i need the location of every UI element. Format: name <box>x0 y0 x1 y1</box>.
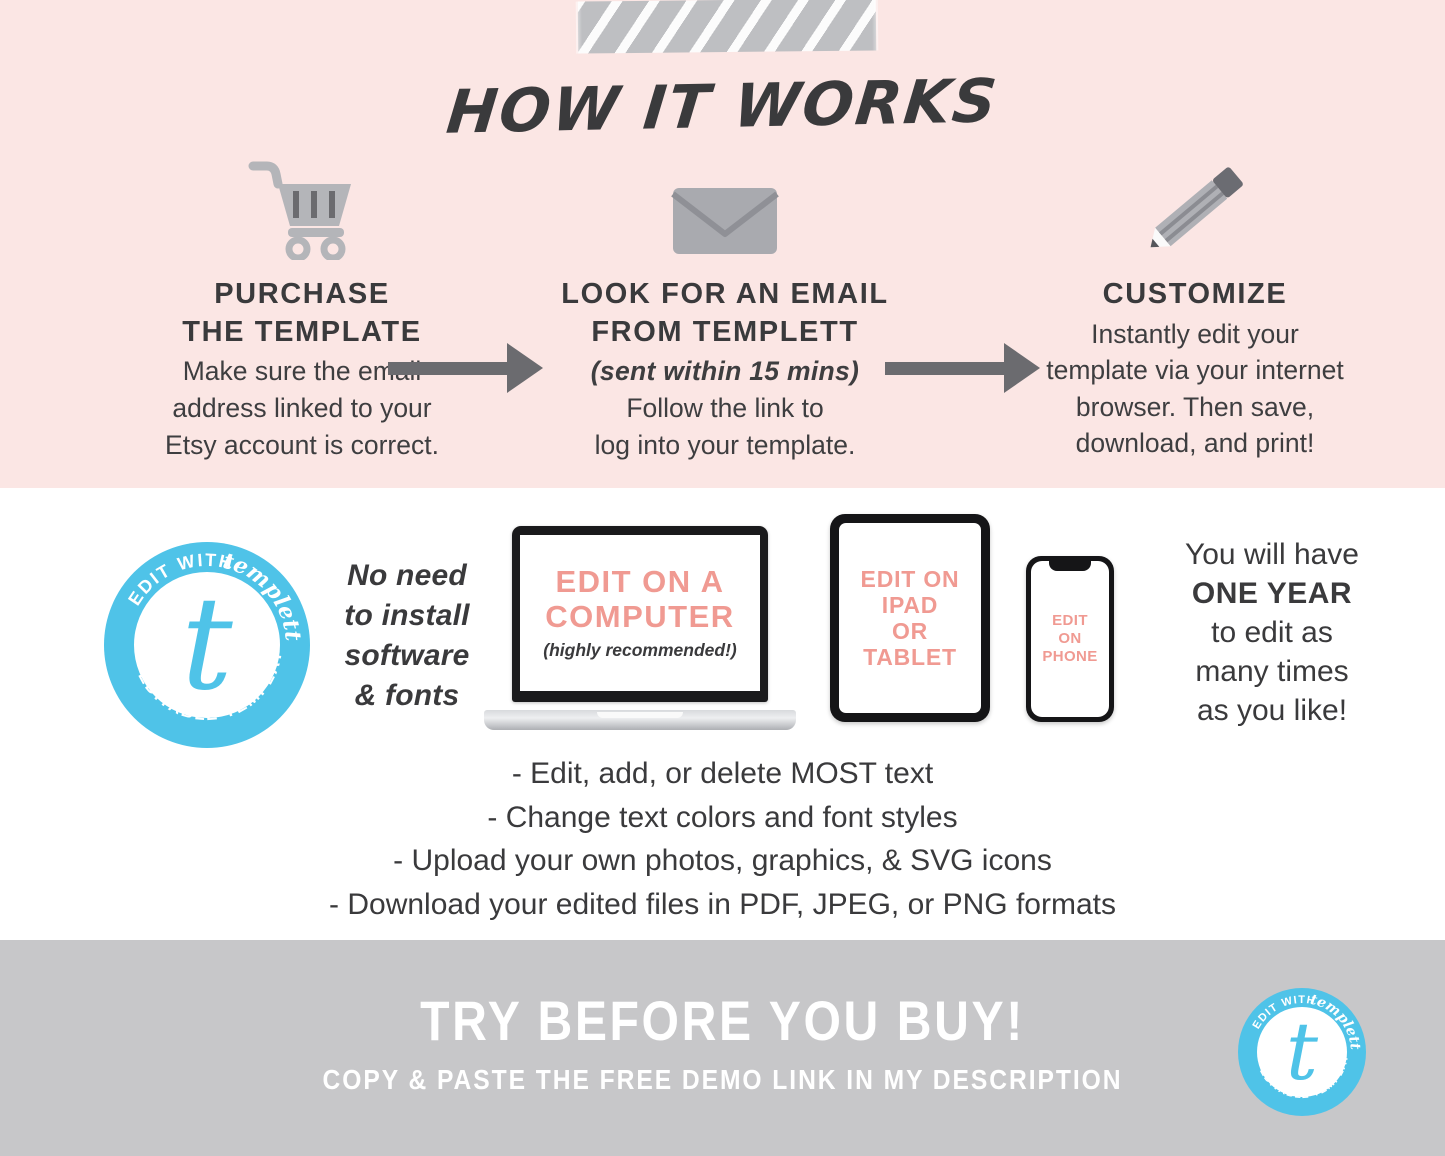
how-it-works-section: HOW IT WORKS PUR <box>0 0 1445 488</box>
ipad-line2: IPAD <box>861 592 960 618</box>
step-body-line3: browser. Then save, <box>975 389 1415 426</box>
envelope-icon <box>510 150 940 260</box>
step-body-line1: (sent within 15 mins) <box>510 353 940 390</box>
no-install-line3: software <box>322 636 492 676</box>
phone-notch <box>1049 561 1091 571</box>
step-customize: CUSTOMIZE Instantly edit your template v… <box>975 150 1415 462</box>
step-heading: PURCHASE THE TEMPLATE <box>92 276 512 351</box>
step-purchase: PURCHASE THE TEMPLATE Make sure the emai… <box>92 150 512 463</box>
list-item: - Change text colors and font styles <box>0 796 1445 840</box>
laptop-note: (highly recommended!) <box>543 640 737 661</box>
steps-row: PURCHASE THE TEMPLATE Make sure the emai… <box>0 150 1445 470</box>
no-install-line1: No need <box>322 556 492 596</box>
step-heading-line1: CUSTOMIZE <box>975 276 1415 314</box>
step-heading-line1: LOOK FOR AN EMAIL <box>510 276 940 314</box>
list-item: - Edit, add, or delete MOST text <box>0 752 1445 796</box>
ipad-line1: EDIT ON <box>861 566 960 592</box>
step-body: (sent within 15 mins) Follow the link to… <box>510 353 940 463</box>
ipad-screen: EDIT ON IPAD OR TABLET <box>839 523 981 713</box>
one-year-text: You will have ONE YEAR to edit as many t… <box>1122 535 1422 730</box>
feature-bullet-list: - Edit, add, or delete MOST text - Chang… <box>0 752 1445 926</box>
ipad-line3: OR <box>861 618 960 644</box>
step-look-for-email: LOOK FOR AN EMAIL FROM TEMPLETT (sent wi… <box>510 150 940 463</box>
phone-line3: PHONE <box>1042 648 1097 666</box>
how-it-works-infographic: HOW IT WORKS PUR <box>0 0 1445 1156</box>
laptop-line1: EDIT ON A <box>545 565 734 600</box>
step-body-line2: template via your internet <box>975 352 1415 389</box>
step-body-line2: address linked to your <box>92 390 512 427</box>
laptop-trackpad-notch <box>597 712 683 718</box>
templett-badge-icon-footer: EDIT WITH templett EDITABLE TEMPLATE t <box>1238 988 1366 1116</box>
laptop-line2: COMPUTER <box>545 600 734 635</box>
phone-mockup: EDIT ON PHONE <box>1026 556 1114 722</box>
step-heading-line1: PURCHASE <box>92 276 512 314</box>
step-heading: LOOK FOR AN EMAIL FROM TEMPLETT <box>510 276 940 351</box>
step-body-line1: Instantly edit your <box>975 316 1415 353</box>
badge-letter-t: t <box>1238 1010 1366 1094</box>
laptop-base <box>484 710 796 730</box>
step-body: Instantly edit your template via your in… <box>975 316 1415 462</box>
pencil-icon <box>975 150 1415 260</box>
phone-line2: ON <box>1042 630 1097 648</box>
one-year-line5: as you like! <box>1122 691 1422 730</box>
page-title: HOW IT WORKS <box>0 57 1445 157</box>
no-install-line4: & fonts <box>322 676 492 716</box>
footer-subtitle: COPY & PASTE THE FREE DEMO LINK IN MY DE… <box>87 1064 1359 1096</box>
try-before-you-buy-section: TRY BEFORE YOU BUY! COPY & PASTE THE FRE… <box>0 940 1445 1156</box>
shopping-cart-icon <box>92 150 512 260</box>
step-heading: CUSTOMIZE <box>975 276 1415 314</box>
step-body-line2: Follow the link to <box>510 390 940 427</box>
step-heading-line2: FROM TEMPLETT <box>510 314 940 352</box>
list-item: - Upload your own photos, graphics, & SV… <box>0 839 1445 883</box>
phone-screen: EDIT ON PHONE <box>1031 561 1109 717</box>
laptop-mockup: EDIT ON A COMPUTER (highly recommended!) <box>484 526 796 730</box>
one-year-highlight: ONE YEAR <box>1122 574 1422 613</box>
no-install-text: No need to install software & fonts <box>322 556 492 716</box>
templett-badge-icon: EDIT WITH templett EDITABLE TEMPLATE t <box>104 542 310 748</box>
one-year-line3: to edit as <box>1122 613 1422 652</box>
no-install-line2: to install <box>322 596 492 636</box>
step-body-line4: download, and print! <box>975 425 1415 462</box>
washi-tape-icon <box>578 0 877 54</box>
ipad-mockup: EDIT ON IPAD OR TABLET <box>830 514 990 722</box>
laptop-lid: EDIT ON A COMPUTER (highly recommended!) <box>512 526 768 702</box>
phone-line1: EDIT <box>1042 612 1097 630</box>
footer-title: TRY BEFORE YOU BUY! <box>101 988 1344 1053</box>
one-year-line1: You will have <box>1122 535 1422 574</box>
step-body-line3: Etsy account is correct. <box>92 427 512 464</box>
laptop-screen: EDIT ON A COMPUTER (highly recommended!) <box>520 535 760 691</box>
step-body-line3: log into your template. <box>510 427 940 464</box>
list-item: - Download your edited files in PDF, JPE… <box>0 883 1445 927</box>
badge-letter-t: t <box>104 578 310 712</box>
ipad-line4: TABLET <box>861 644 960 670</box>
one-year-line4: many times <box>1122 652 1422 691</box>
